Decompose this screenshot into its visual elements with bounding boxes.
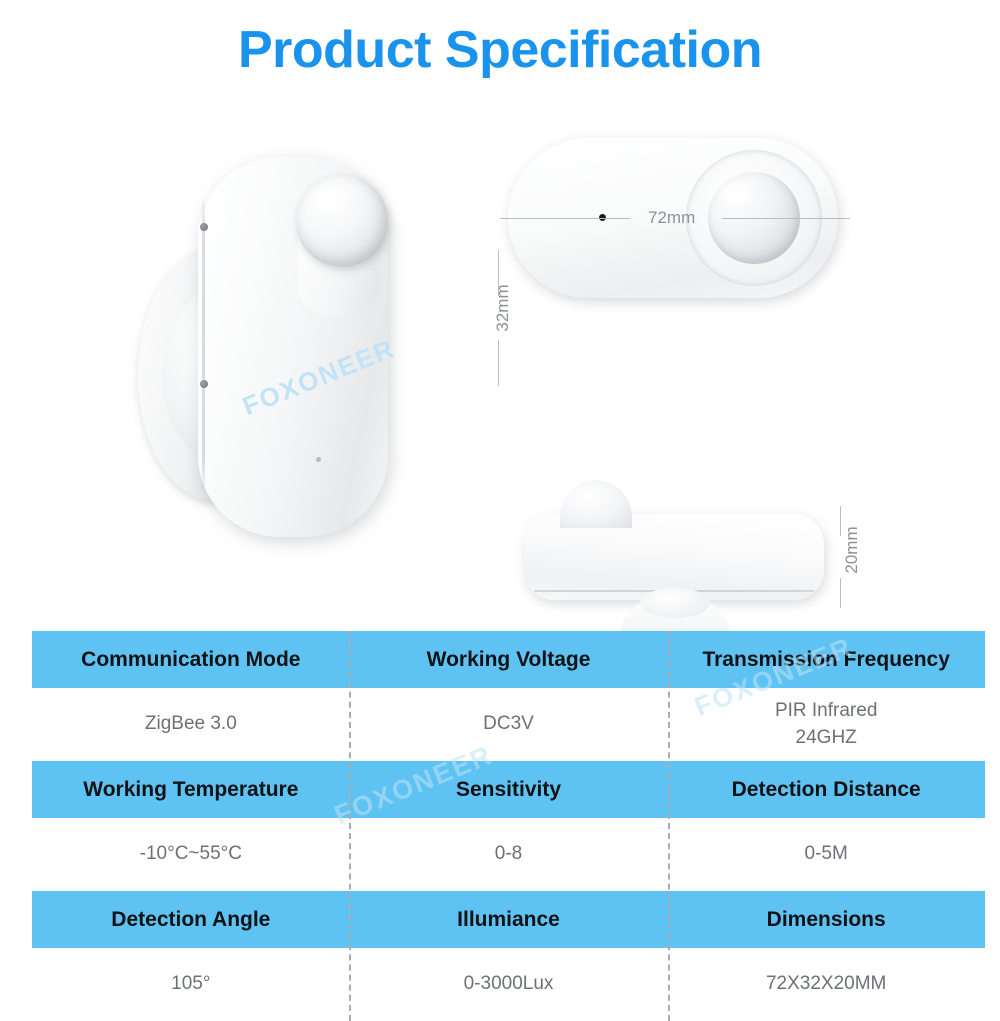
dim-line-20mm-top: [840, 506, 841, 536]
table-header-row: Working Temperature Sensitivity Detectio…: [32, 761, 985, 818]
header-working-voltage: Working Voltage: [350, 631, 668, 688]
side-view-swivel-knob: [640, 588, 710, 618]
side-view-pir-dome-lens: [560, 480, 632, 528]
value-communication-mode: ZigBee 3.0: [32, 688, 350, 761]
hero-screw-top-icon: [200, 223, 208, 231]
table-value-row: 105° 0-3000Lux 72X32X20MM: [32, 948, 985, 1021]
hero-screw-bottom-icon: [200, 380, 208, 388]
hero-seam-line: [202, 195, 205, 495]
value-detection-distance: 0-5M: [667, 818, 985, 891]
hero-led-indicator-icon: [316, 457, 321, 462]
table-header-row: Communication Mode Working Voltage Trans…: [32, 631, 985, 688]
header-working-temperature: Working Temperature: [32, 761, 350, 818]
header-communication-mode: Communication Mode: [32, 631, 350, 688]
hero-product-photo: [90, 135, 430, 565]
title-bar: Product Specification: [0, 0, 1000, 100]
header-dimensions: Dimensions: [667, 891, 985, 948]
product-diagram-area: FOXONEER 72mm 32mm 20mm 2mm 52mm: [0, 100, 1000, 620]
header-sensitivity: Sensitivity: [350, 761, 668, 818]
dim-label-72mm: 72mm: [648, 208, 695, 228]
header-illumiance: Illumiance: [350, 891, 668, 948]
value-sensitivity: 0-8: [350, 818, 668, 891]
dim-line-72mm-left: [500, 218, 630, 219]
value-illumiance: 0-3000Lux: [350, 948, 668, 1021]
dim-line-20mm-bottom: [840, 578, 841, 608]
value-transmission-frequency-line1: PIR Infrared: [775, 698, 877, 725]
dim-line-72mm-right: [722, 218, 850, 219]
table-value-row: -10°C~55°C 0-8 0-5M: [32, 818, 985, 891]
page-title: Product Specification: [238, 20, 762, 80]
value-working-voltage: DC3V: [350, 688, 668, 761]
hero-pir-dome-lens: [296, 175, 388, 267]
dim-label-20mm: 20mm: [842, 515, 862, 585]
value-transmission-frequency-line2: 24GHZ: [796, 725, 857, 752]
value-transmission-frequency: PIR Infrared 24GHZ: [667, 688, 985, 761]
header-transmission-frequency: Transmission Frequency: [667, 631, 985, 688]
dim-line-32mm-bottom: [498, 340, 499, 386]
table-header-row: Detection Angle Illumiance Dimensions: [32, 891, 985, 948]
table-value-row: ZigBee 3.0 DC3V PIR Infrared 24GHZ: [32, 688, 985, 761]
value-detection-angle: 105°: [32, 948, 350, 1021]
value-dimensions: 72X32X20MM: [667, 948, 985, 1021]
specification-table-body: Communication Mode Working Voltage Trans…: [32, 631, 985, 1021]
specification-table: Communication Mode Working Voltage Trans…: [32, 631, 985, 1021]
value-working-temperature: -10°C~55°C: [32, 818, 350, 891]
header-detection-distance: Detection Distance: [667, 761, 985, 818]
dim-label-32mm: 32mm: [493, 273, 513, 343]
header-detection-angle: Detection Angle: [32, 891, 350, 948]
